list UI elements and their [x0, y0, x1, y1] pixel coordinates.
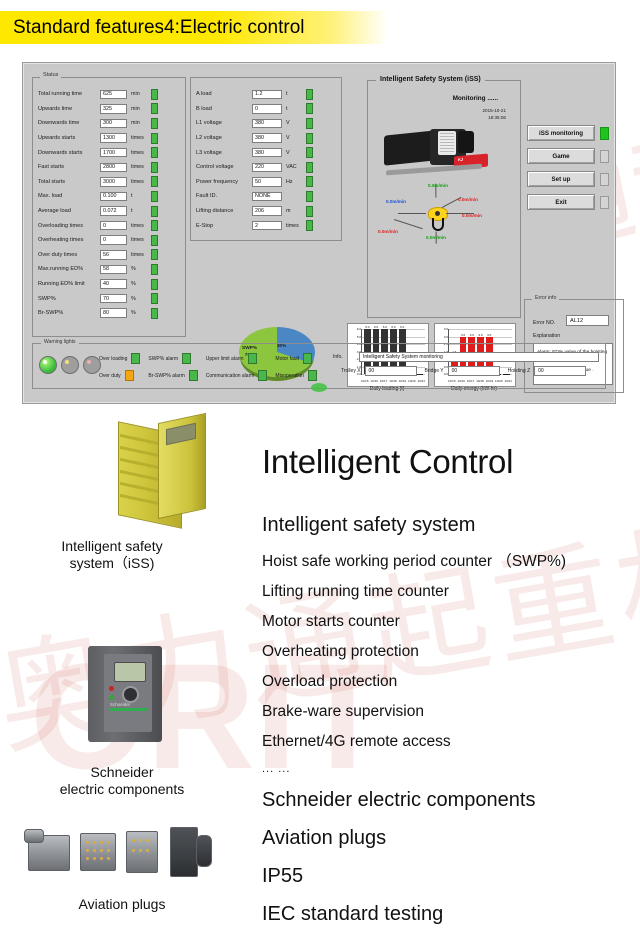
feature-item: Hoist safe working period counter （SWP%) [262, 549, 640, 571]
error-no-field[interactable]: AL12 [566, 315, 609, 326]
status-row: Downwards starts 1700 times [38, 145, 181, 160]
closing-item: Aviation plugs [262, 825, 640, 851]
main-heading: Intelligent Control [262, 443, 640, 481]
warning-item-grid: Over loading Over duty SWP% alarm Br-SWP… [99, 353, 317, 381]
speed-label-down: 0.0m/min [426, 235, 446, 240]
button-lamp-icon [600, 196, 609, 209]
button-lamp-icon [600, 127, 609, 140]
status-label: Downwards starts [38, 150, 100, 156]
status-led-icon [151, 279, 158, 290]
status-led-icon [151, 103, 158, 114]
status-value-field[interactable]: 380 [252, 148, 282, 158]
status-value-field[interactable]: 0 [100, 221, 127, 231]
status-row: Control voltage 220 VAC [196, 160, 337, 175]
warning-lights-label: Warning lights [41, 339, 79, 345]
warning-item-label: Over duty [99, 373, 121, 379]
status-value-field[interactable]: 56 [100, 250, 127, 260]
lamp-green-icon [39, 356, 57, 374]
status-led-icon [306, 147, 313, 158]
axis-label: Hoisting Z [508, 368, 531, 374]
status-unit: min [127, 120, 151, 126]
status-value-field[interactable]: 2 [252, 221, 282, 231]
status-label: Power frequency [196, 179, 252, 185]
status-row: Average load 0.072 t [38, 204, 181, 219]
status-unit: times [127, 237, 151, 243]
info-field[interactable]: Intelligent Safety System monitoring [359, 352, 599, 362]
monitor-title: Intelligent Safety System (iSS) [376, 76, 485, 83]
lamp-yellow-icon [61, 356, 79, 374]
status-led-icon [151, 308, 158, 319]
monitor-time: 18:35:06 [483, 114, 507, 121]
info-area: Info. Intelligent Safety System monitori… [333, 352, 601, 380]
status-value-field[interactable]: 2800 [100, 163, 127, 173]
status-row: L2 voltage 380 V [196, 131, 337, 146]
feature-item: Ethernet/4G remote access [262, 733, 640, 751]
lower-content: Intelligent safety system（iSS) Schneider… [0, 406, 640, 950]
status-label: L1 voltage [196, 120, 252, 126]
warning-lights-group: Warning lights Over loading Over duty SW… [32, 343, 606, 389]
status-unit: VAC [282, 164, 306, 170]
status-row: SWP% 70 % [38, 291, 181, 306]
warning-item-label: Motor fault [275, 356, 299, 362]
y-tick-label: 3.0 [444, 335, 448, 339]
status-unit: t [127, 208, 151, 214]
status-row: Max. load 0.100 t [38, 189, 181, 204]
warning-item: Misoperation [275, 370, 317, 381]
warning-item: Br-SWP% alarm [148, 370, 197, 381]
status-value-field[interactable]: 58 [100, 265, 127, 275]
status-value-field[interactable]: 0.072 [100, 206, 127, 216]
feature-list: Hoist safe working period counter （SWP%)… [262, 549, 640, 751]
status-label: Upwards time [38, 106, 100, 112]
status-unit: V [282, 150, 306, 156]
closing-item: IEC standard testing [262, 901, 640, 927]
status-value-field[interactable]: 1.2 [252, 90, 282, 100]
status-label: Fast starts [38, 164, 100, 170]
bar-value-label: 3.0 [487, 333, 491, 337]
closing-list: Schneider electric componentsAviation pl… [262, 787, 640, 927]
iss-caption: Intelligent safety system（iSS) [12, 538, 212, 572]
status-unit: % [127, 281, 151, 287]
warning-led-icon [189, 370, 198, 381]
status-unit: t [282, 91, 306, 97]
status-led-icon [151, 176, 158, 187]
feature-item: Overheating protection [262, 643, 640, 661]
status-row: Power frequency 50 Hz [196, 175, 337, 190]
status-unit: times [127, 135, 151, 141]
status-led-icon [306, 191, 313, 202]
status-led-icon [151, 206, 158, 217]
status-unit: V [282, 120, 306, 126]
warning-led-icon [248, 353, 257, 364]
status-unit: m [282, 208, 306, 214]
bar-value-label: 6.0 [383, 325, 387, 329]
status-row: Upwards time 325 min [38, 102, 181, 117]
status-value-field[interactable]: 80 [100, 308, 127, 318]
iss-caption-line1: Intelligent safety [12, 538, 212, 555]
warning-item-label: SWP% alarm [148, 356, 178, 362]
status-value-field[interactable]: NONE [252, 192, 282, 202]
status-row: Running ED% limit 40 % [38, 277, 181, 292]
status-led-icon [151, 235, 158, 246]
page-title-bar: Standard features4:Electric control [0, 11, 388, 44]
axis-value-field[interactable]: 00 [448, 366, 500, 376]
status-led-icon [306, 89, 313, 100]
closing-item: Schneider electric components [262, 787, 640, 813]
status-row: Total running time 625 min [38, 87, 181, 102]
button-lamp-icon [600, 173, 609, 186]
feature-item: Overload protection [262, 673, 640, 691]
status-unit: times [127, 179, 151, 185]
y-tick-label: 3.6 [444, 327, 448, 331]
speed-label-right: 0.0m/min [462, 213, 482, 218]
status-led-icon [151, 133, 158, 144]
status-row: Downwards time 300 min [38, 116, 181, 131]
status-unit: min [127, 106, 151, 112]
status-value-field[interactable]: 325 [100, 104, 127, 114]
status-row: Fault ID. NONE [196, 189, 337, 204]
page-title: Standard features4:Electric control [0, 17, 305, 39]
hmi-screenshot-panel: Status Total running time 625 min Upward… [22, 62, 616, 404]
status-value-field[interactable]: 300 [100, 119, 127, 129]
status-value-field[interactable]: 1700 [100, 148, 127, 158]
feature-text-column: Intelligent Control Intelligent safety s… [262, 406, 640, 927]
status-row: Max.running ED% 58 % [38, 262, 181, 277]
status-group-label: Status [40, 72, 61, 78]
warning-item: Motor fault [275, 353, 317, 364]
axis-position-row: Trolley X 00 Bridge Y 00 Hoisting Z 00 [333, 366, 601, 376]
button-set-up[interactable]: Set up [527, 171, 595, 187]
status-label: Total running time [38, 91, 100, 97]
button-lamp-icon [600, 150, 609, 163]
warning-item-label: Misoperation [275, 373, 304, 379]
status-value-field[interactable]: 220 [252, 163, 282, 173]
status-value-field[interactable]: 1300 [100, 133, 127, 143]
status-row: Overloading times 0 times [38, 218, 181, 233]
hoist-photo: KJ [380, 123, 500, 185]
axis-label: Trolley X [341, 368, 361, 374]
schneider-caption-line1: Schneider [12, 764, 232, 781]
bar-value-label: 6.0 [400, 325, 404, 329]
speed-label-down-left: 0.0m/min [378, 229, 398, 234]
speed-label-left: 0.0m/min [386, 199, 406, 204]
status-label: Max.running ED% [38, 266, 100, 272]
status-label: Fault ID. [196, 193, 252, 199]
warning-item: Over duty [99, 370, 140, 381]
status-unit: % [127, 266, 151, 272]
status-led-icon [151, 147, 158, 158]
status-row: B load 0 t [196, 102, 337, 117]
status-label: Max. load [38, 193, 100, 199]
status-led-icon [306, 118, 313, 129]
status-unit: Hz [282, 179, 306, 185]
warning-item-label: Communication alarm [206, 373, 255, 379]
status-unit: % [127, 296, 151, 302]
status-unit: t [282, 106, 306, 112]
schneider-caption: Schneider electric components [12, 764, 232, 798]
monitor-datetime: 2015-10-21 18:35:06 [483, 107, 507, 121]
warning-led-icon [258, 370, 267, 381]
status-label: Br-SWP% [38, 310, 100, 316]
status-label: Lifting distance [196, 208, 252, 214]
status-value-field[interactable]: 380 [252, 119, 282, 129]
explanation-label: Explanation [533, 333, 560, 339]
bar-value-label: 3.0 [461, 333, 465, 337]
status-value-field[interactable]: 50 [252, 177, 282, 187]
status-led-icon [151, 264, 158, 275]
status-led-icon [151, 89, 158, 100]
status-label: Overloading times [38, 223, 100, 229]
status-label: Downwards time [38, 120, 100, 126]
warning-item: Communication alarm [206, 370, 268, 381]
status-label: L2 voltage [196, 135, 252, 141]
status-rows-right: A load 1.2 t B load 0 t L1 voltage 380 V… [196, 87, 337, 233]
status-rows-left: Total running time 625 min Upwards time … [38, 87, 181, 321]
status-led-icon [306, 162, 313, 173]
status-led-icon [151, 118, 158, 129]
info-label: Info. [333, 354, 359, 360]
schneider-caption-line2: electric components [12, 781, 232, 798]
status-led-icon [151, 191, 158, 202]
bar-value-label: 6.0 [391, 325, 395, 329]
status-unit: times [282, 223, 306, 229]
status-unit: times [127, 223, 151, 229]
status-unit: min [127, 91, 151, 97]
bar-value-label: 3.0 [470, 333, 474, 337]
status-label: E-Stop [196, 223, 252, 229]
status-unit: times [127, 252, 151, 258]
status-value-field[interactable]: 206 [252, 206, 282, 216]
monitoring-status: Monitoring ...... [453, 95, 498, 102]
y-tick-label: 5.0 [357, 335, 361, 339]
warning-item: Upper limit alarm [206, 353, 268, 364]
axis-value-field[interactable]: 00 [365, 366, 417, 376]
button-iss-monitoring[interactable]: iSS monitoring [527, 125, 595, 141]
aviation-plugs-image [22, 821, 222, 883]
status-value-field[interactable]: 0.100 [100, 192, 127, 202]
status-led-icon [151, 220, 158, 231]
status-row: E-Stop 2 times [196, 218, 337, 233]
status-value-field[interactable]: 0 [100, 235, 127, 245]
error-no-label: Error NO. [533, 320, 555, 326]
status-row: Fast starts 2800 times [38, 160, 181, 175]
status-row: Over duty times 56 times [38, 248, 181, 263]
status-led-icon [151, 162, 158, 173]
status-led-icon [306, 206, 313, 217]
status-value-field[interactable]: 70 [100, 294, 127, 304]
status-label: Over duty times [38, 252, 100, 258]
status-led-icon [151, 249, 158, 260]
iss-module-image [110, 414, 216, 532]
warning-led-icon [308, 370, 317, 381]
warning-item-label: Over loading [99, 356, 127, 362]
status-value-field[interactable]: 40 [100, 279, 127, 289]
status-group-right: A load 1.2 t B load 0 t L1 voltage 380 V… [190, 77, 342, 241]
y-tick-label: 6.0 [357, 327, 361, 331]
ellipsis-text: ... ... [262, 763, 640, 775]
warning-item-label: Upper limit alarm [206, 356, 244, 362]
axis-label: Bridge Y [425, 368, 444, 374]
bar-value-label: 3.0 [478, 333, 482, 337]
status-row: Upwards starts 1300 times [38, 131, 181, 146]
status-row: Total starts 3000 times [38, 175, 181, 190]
sub-heading: Intelligent safety system [262, 514, 640, 537]
monitor-panel: Intelligent Safety System (iSS) Monitori… [367, 80, 521, 318]
error-info-label: Error info [532, 295, 559, 301]
status-value-field[interactable]: 0 [252, 104, 282, 114]
feature-item: Lifting running time counter [262, 583, 640, 601]
status-led-icon [306, 103, 313, 114]
control-button-list: iSS monitoring Game Set up Exit [527, 125, 611, 217]
bar-value-label: 6.0 [374, 325, 378, 329]
monitor-date: 2015-10-21 [483, 107, 507, 114]
status-value-field[interactable]: 380 [252, 133, 282, 143]
status-row: Lifting distance 206 m [196, 204, 337, 219]
plugs-caption: Aviation plugs [12, 896, 232, 913]
status-unit: times [127, 150, 151, 156]
status-group-left: Status Total running time 625 min Upward… [32, 77, 186, 337]
status-row: L1 voltage 380 V [196, 116, 337, 131]
warning-led-icon [131, 353, 140, 364]
iss-caption-line2: system（iSS) [12, 555, 212, 572]
closing-item: IP55 [262, 863, 640, 889]
status-led-icon [306, 133, 313, 144]
status-label: B load [196, 106, 252, 112]
status-dot [311, 383, 327, 392]
status-row: Br-SWP% 80 % [38, 306, 181, 321]
warning-item: SWP% alarm [148, 353, 197, 364]
warning-led-icon [182, 353, 191, 364]
status-label: Upwards starts [38, 135, 100, 141]
status-label: Running ED% limit [38, 281, 100, 287]
feature-item: Motor starts counter [262, 613, 640, 631]
bar-value-label: 6.0 [365, 325, 369, 329]
status-label: L3 voltage [196, 150, 252, 156]
status-label: A load [196, 91, 252, 97]
status-value-field[interactable]: 3000 [100, 177, 127, 187]
status-value-field[interactable]: 625 [100, 90, 127, 100]
axis-value-field[interactable]: 00 [534, 366, 586, 376]
status-led-icon [306, 176, 313, 187]
status-led-icon [151, 293, 158, 304]
status-label: Average load [38, 208, 100, 214]
warning-item-label: Br-SWP% alarm [148, 373, 184, 379]
button-game[interactable]: Game [527, 148, 595, 164]
status-label: Total starts [38, 179, 100, 185]
status-unit: % [127, 310, 151, 316]
warning-led-icon [125, 370, 134, 381]
status-unit: V [282, 135, 306, 141]
feature-item: Brake-ware supervision [262, 703, 640, 721]
indicator-lamps [39, 356, 101, 374]
status-row: L3 voltage 380 V [196, 145, 337, 160]
status-unit: t [127, 193, 151, 199]
button-exit[interactable]: Exit [527, 194, 595, 210]
status-label: Overheating times [38, 237, 100, 243]
status-label: Control voltage [196, 164, 252, 170]
status-unit: times [127, 164, 151, 170]
warning-led-icon [303, 353, 312, 364]
status-row: A load 1.2 t [196, 87, 337, 102]
status-row: Overheating times 0 times [38, 233, 181, 248]
speed-diagram: 0.0m/min 0.0m/min 0.0m/min 0.0m/min 0.0m… [376, 185, 504, 247]
warning-item: Over loading [99, 353, 140, 364]
schneider-inverter-image: Schneider [88, 646, 162, 742]
status-label: SWP% [38, 296, 100, 302]
speed-label-up: 0.0m/min [428, 183, 448, 188]
status-led-icon [306, 220, 313, 231]
speed-label-up-right: 0.0m/min [458, 197, 478, 202]
